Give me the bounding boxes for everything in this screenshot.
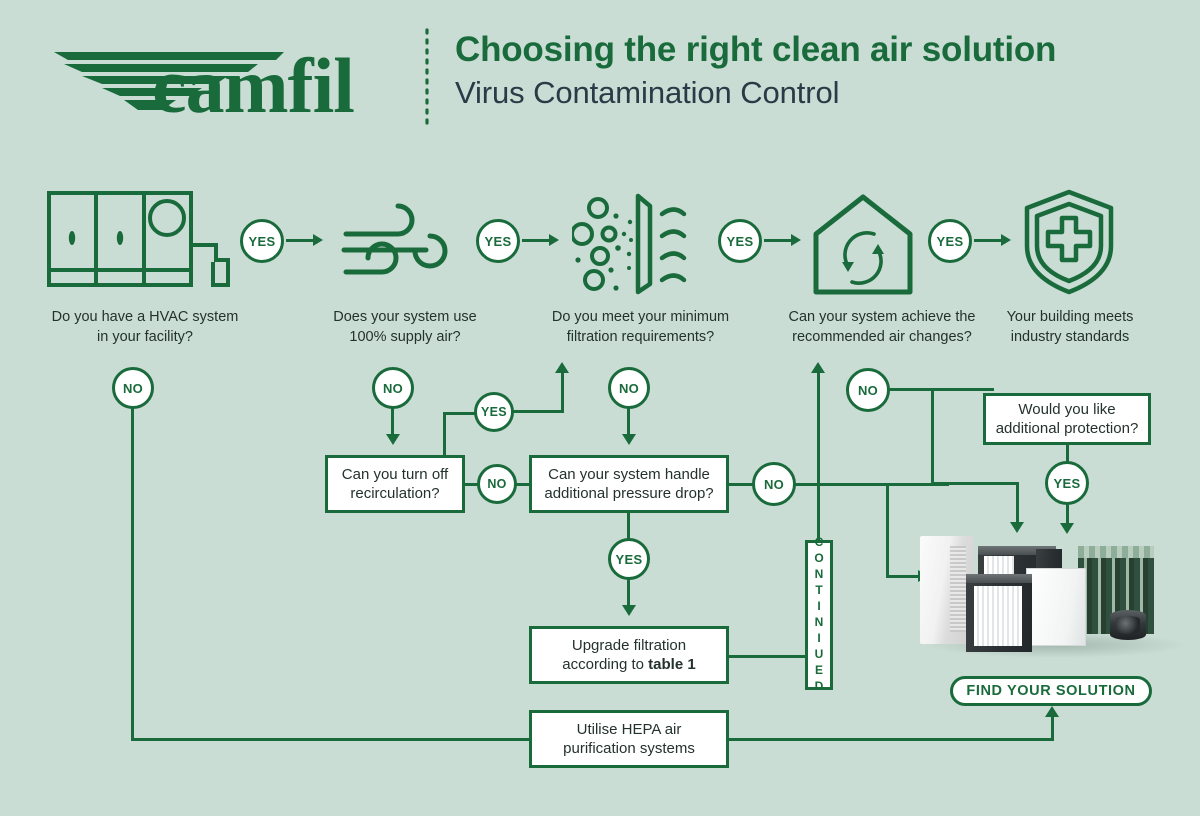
hvac-unit-icon bbox=[46, 190, 236, 295]
dotted-divider-icon bbox=[424, 28, 430, 126]
connector-pressure-yes-vert-a bbox=[627, 512, 630, 540]
node-pressure-line1: Can your system handle bbox=[544, 465, 713, 485]
camfil-wing-logo-icon: camfil bbox=[52, 30, 412, 125]
header-text-block: Choosing the right clean air solution Vi… bbox=[455, 32, 1175, 110]
node-upgrade-line2-prefix: according to bbox=[562, 656, 648, 673]
connector-yes4-arrow bbox=[1001, 234, 1011, 246]
caption-supply-line2: 100% supply air? bbox=[295, 328, 515, 348]
infographic-canvas: camfil Choosing the right clean air solu… bbox=[0, 0, 1200, 816]
connector-recirc-yes-vert-a bbox=[443, 412, 446, 457]
connector-pressure-yes-vert-b bbox=[627, 579, 630, 607]
connector-yes4-line bbox=[974, 239, 1002, 242]
connector-yes1-line bbox=[286, 239, 314, 242]
connector-pressure-yes-arrow bbox=[622, 605, 636, 616]
connector-no-supply-vert bbox=[391, 408, 394, 436]
find-your-solution-button[interactable]: FIND YOUR SOLUTION bbox=[950, 676, 1152, 706]
node-recirculation-line2: recirculation? bbox=[342, 484, 448, 504]
continued-label: CONTINIUED bbox=[812, 535, 826, 695]
caption-airchanges-line2: recommended air changes? bbox=[762, 328, 1002, 348]
badge-yes-recirculation[interactable]: YES bbox=[474, 392, 514, 432]
badge-no-hvac[interactable]: NO bbox=[112, 367, 154, 409]
connector-no-airchanges-vert bbox=[931, 388, 934, 484]
connector-protection-yes-vert-b bbox=[1066, 503, 1069, 525]
connector-pressure-no-vert bbox=[886, 483, 889, 577]
node-upgrade-filtration[interactable]: Upgrade filtration according to table 1 bbox=[529, 626, 729, 684]
page-title: Choosing the right clean air solution bbox=[455, 32, 1175, 69]
node-turn-off-recirculation[interactable]: Can you turn off recirculation? bbox=[325, 455, 465, 513]
connector-hepa-arrow bbox=[1045, 706, 1059, 717]
page-subtitle: Virus Contamination Control bbox=[455, 75, 1175, 111]
caption-supply-line1: Does your system use bbox=[295, 308, 515, 328]
connector-recirc-yes-horiz-b bbox=[512, 410, 564, 413]
connector-no-filtration-arrow bbox=[622, 434, 636, 445]
node-hepa-purification[interactable]: Utilise HEPA air purification systems bbox=[529, 710, 729, 768]
badge-yes-pressure-drop[interactable]: YES bbox=[608, 538, 650, 580]
connector-hepa-right bbox=[728, 738, 1054, 741]
badge-no-supply-air[interactable]: NO bbox=[372, 367, 414, 409]
header-divider bbox=[424, 28, 428, 126]
connector-no-airchanges-vert-b bbox=[1016, 482, 1019, 524]
badge-no-recirculation[interactable]: NO bbox=[477, 464, 517, 504]
node-hepa-line1: Utilise HEPA air bbox=[563, 720, 695, 740]
connector-yes1-arrow bbox=[313, 234, 323, 246]
svg-text:camfil: camfil bbox=[152, 42, 354, 125]
connector-yes3-line bbox=[764, 239, 792, 242]
badge-yes-hvac[interactable]: YES bbox=[240, 219, 284, 263]
camfil-logo[interactable]: camfil bbox=[52, 30, 412, 125]
airflow-wind-icon bbox=[338, 198, 450, 291]
product-panel-filter bbox=[1026, 568, 1086, 646]
node-upgrade-table-ref: table 1 bbox=[648, 656, 696, 673]
badge-no-pressure-drop[interactable]: NO bbox=[752, 462, 796, 506]
connector-pressure-no-line-a bbox=[728, 483, 753, 486]
connector-yes2-arrow bbox=[549, 234, 559, 246]
badge-yes-supply-air[interactable]: YES bbox=[476, 219, 520, 263]
caption-hvac-line2: in your facility? bbox=[30, 328, 260, 348]
shield-cross-icon bbox=[1022, 188, 1116, 301]
badge-no-filtration[interactable]: NO bbox=[608, 367, 650, 409]
caption-air-changes: Can your system achieve the recommended … bbox=[762, 308, 1002, 347]
connector-upgrade-to-continued bbox=[728, 655, 808, 658]
connector-recirc-yes-vert-b bbox=[561, 373, 564, 413]
node-recirculation-line1: Can you turn off bbox=[342, 465, 448, 485]
node-pressure-line2: additional pressure drop? bbox=[544, 484, 713, 504]
caption-standards-line2: industry standards bbox=[985, 328, 1155, 348]
connector-no-airchanges-horiz-a bbox=[888, 388, 994, 391]
connector-no-airchanges-horiz-b bbox=[931, 482, 1019, 485]
connector-yes3-arrow bbox=[791, 234, 801, 246]
product-hepa-front-face bbox=[974, 586, 1022, 646]
badge-yes-air-changes[interactable]: YES bbox=[928, 219, 972, 263]
badge-yes-additional-protection[interactable]: YES bbox=[1045, 461, 1089, 505]
node-upgrade-line1: Upgrade filtration bbox=[562, 636, 695, 656]
connector-protection-yes-vert-a bbox=[1066, 444, 1069, 462]
node-hepa-line2: purification systems bbox=[563, 739, 695, 759]
connector-no-filtration-vert bbox=[627, 408, 630, 436]
air-filter-icon bbox=[572, 192, 698, 301]
product-range-image bbox=[918, 524, 1194, 664]
connector-yes2-line bbox=[522, 239, 550, 242]
caption-standards-line1: Your building meets bbox=[985, 308, 1155, 328]
badge-no-air-changes[interactable]: NO bbox=[846, 368, 890, 412]
connector-recirc-yes-horiz-a bbox=[443, 412, 476, 415]
node-additional-pressure-drop[interactable]: Can your system handle additional pressu… bbox=[529, 455, 729, 513]
connector-continued-vert bbox=[817, 373, 820, 541]
node-additional-protection[interactable]: Would you like additional protection? bbox=[983, 393, 1151, 445]
caption-hvac-line1: Do you have a HVAC system bbox=[30, 308, 260, 328]
connector-continued-arrow bbox=[811, 362, 825, 373]
node-protection-line2: additional protection? bbox=[996, 419, 1139, 439]
connector-pressure-no-line-c bbox=[886, 575, 920, 578]
caption-filtration: Do you meet your minimum filtration requ… bbox=[528, 308, 753, 347]
node-continued[interactable]: CONTINIUED bbox=[805, 540, 833, 690]
product-cylindrical-filter bbox=[1110, 610, 1146, 640]
badge-yes-filtration[interactable]: YES bbox=[718, 219, 762, 263]
caption-filtration-line2: filtration requirements? bbox=[528, 328, 753, 348]
connector-no-hvac-vert bbox=[131, 408, 134, 741]
connector-recirc-yes-arrow bbox=[555, 362, 569, 373]
caption-filtration-line1: Do you meet your minimum bbox=[528, 308, 753, 328]
caption-airchanges-line1: Can your system achieve the bbox=[762, 308, 1002, 328]
node-protection-line1: Would you like bbox=[996, 400, 1139, 420]
caption-standards: Your building meets industry standards bbox=[985, 308, 1155, 347]
connector-no-supply-arrow bbox=[386, 434, 400, 445]
house-air-changes-icon bbox=[810, 192, 916, 303]
connector-hepa-up bbox=[1051, 717, 1054, 739]
caption-supply-air: Does your system use 100% supply air? bbox=[295, 308, 515, 347]
caption-hvac: Do you have a HVAC system in your facili… bbox=[30, 308, 260, 347]
product-hepa-front-top bbox=[966, 574, 1032, 583]
connector-no-hvac-horiz bbox=[131, 738, 530, 741]
product-bag-filter-top bbox=[1078, 546, 1154, 558]
